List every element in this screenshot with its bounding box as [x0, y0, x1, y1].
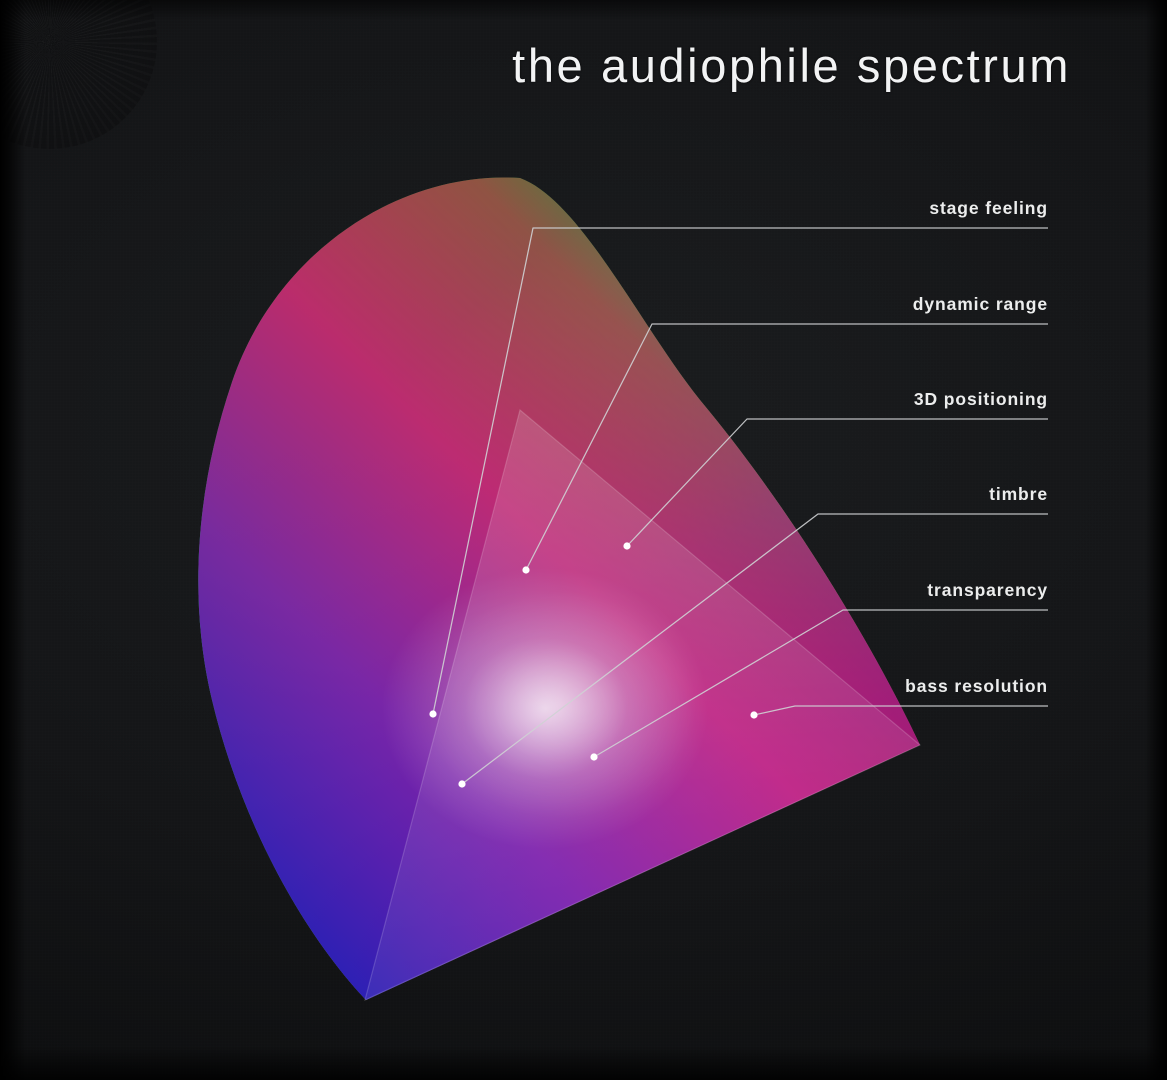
edge-shadow-left: [0, 0, 26, 1080]
edge-shadow-bottom: [0, 1046, 1167, 1080]
callout-label-stage-feeling: stage feeling: [929, 200, 1048, 218]
leader-endpoint-dot: [522, 566, 529, 573]
edge-shadow-top: [0, 0, 1167, 20]
callout-label-timbre: timbre: [989, 486, 1048, 504]
leader-endpoint-dot: [750, 711, 757, 718]
chromaticity-diagram: [0, 0, 1167, 1080]
poster-canvas: the audiophile spectrum stage feelingdyn…: [0, 0, 1167, 1080]
leader-endpoint-dot: [429, 710, 436, 717]
page-title: the audiophile spectrum: [0, 42, 1071, 89]
leader-endpoint-dot: [458, 780, 465, 787]
leader-endpoint-dot: [623, 542, 630, 549]
leader-endpoint-dot: [590, 753, 597, 760]
callout-label-3d-positioning: 3D positioning: [914, 391, 1048, 409]
callout-label-bass-resolution: bass resolution: [905, 678, 1048, 696]
callout-label-transparency: transparency: [927, 582, 1048, 600]
edge-shadow-right: [1145, 0, 1167, 1080]
callout-label-dynamic-range: dynamic range: [913, 296, 1048, 314]
